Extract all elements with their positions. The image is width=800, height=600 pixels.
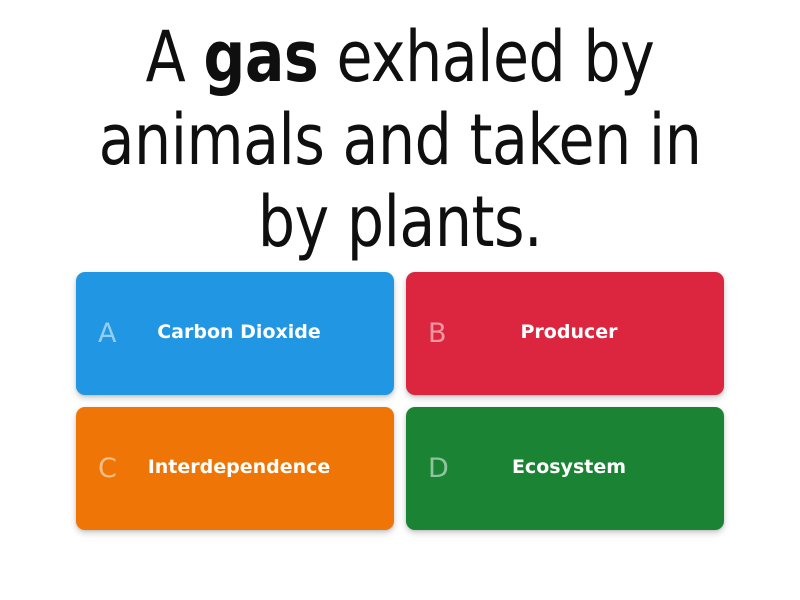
answer-letter-c: C: [98, 455, 132, 482]
answer-letter-b: B: [428, 320, 462, 347]
answer-option-b[interactable]: B Producer: [406, 272, 724, 395]
quiz-question-screen: A gas exhaled by animals and taken in by…: [0, 0, 800, 600]
answer-label-b: Producer: [462, 321, 702, 345]
question-text-emphasis: gas: [203, 16, 318, 98]
answer-options-grid: A Carbon Dioxide B Producer C Interdepen…: [76, 272, 724, 530]
answers-area: A Carbon Dioxide B Producer C Interdepen…: [0, 264, 800, 600]
question-area: A gas exhaled by animals and taken in by…: [0, 0, 800, 264]
question-text: A gas exhaled by animals and taken in by…: [56, 16, 744, 264]
question-text-part-before: A: [146, 16, 204, 98]
answer-option-a[interactable]: A Carbon Dioxide: [76, 272, 394, 395]
answer-letter-a: A: [98, 320, 132, 347]
answer-option-d[interactable]: D Ecosystem: [406, 407, 724, 530]
answer-option-c[interactable]: C Interdependence: [76, 407, 394, 530]
answer-label-c: Interdependence: [132, 456, 372, 480]
answer-label-d: Ecosystem: [462, 456, 702, 480]
answer-label-a: Carbon Dioxide: [132, 321, 372, 345]
answer-letter-d: D: [428, 455, 462, 482]
